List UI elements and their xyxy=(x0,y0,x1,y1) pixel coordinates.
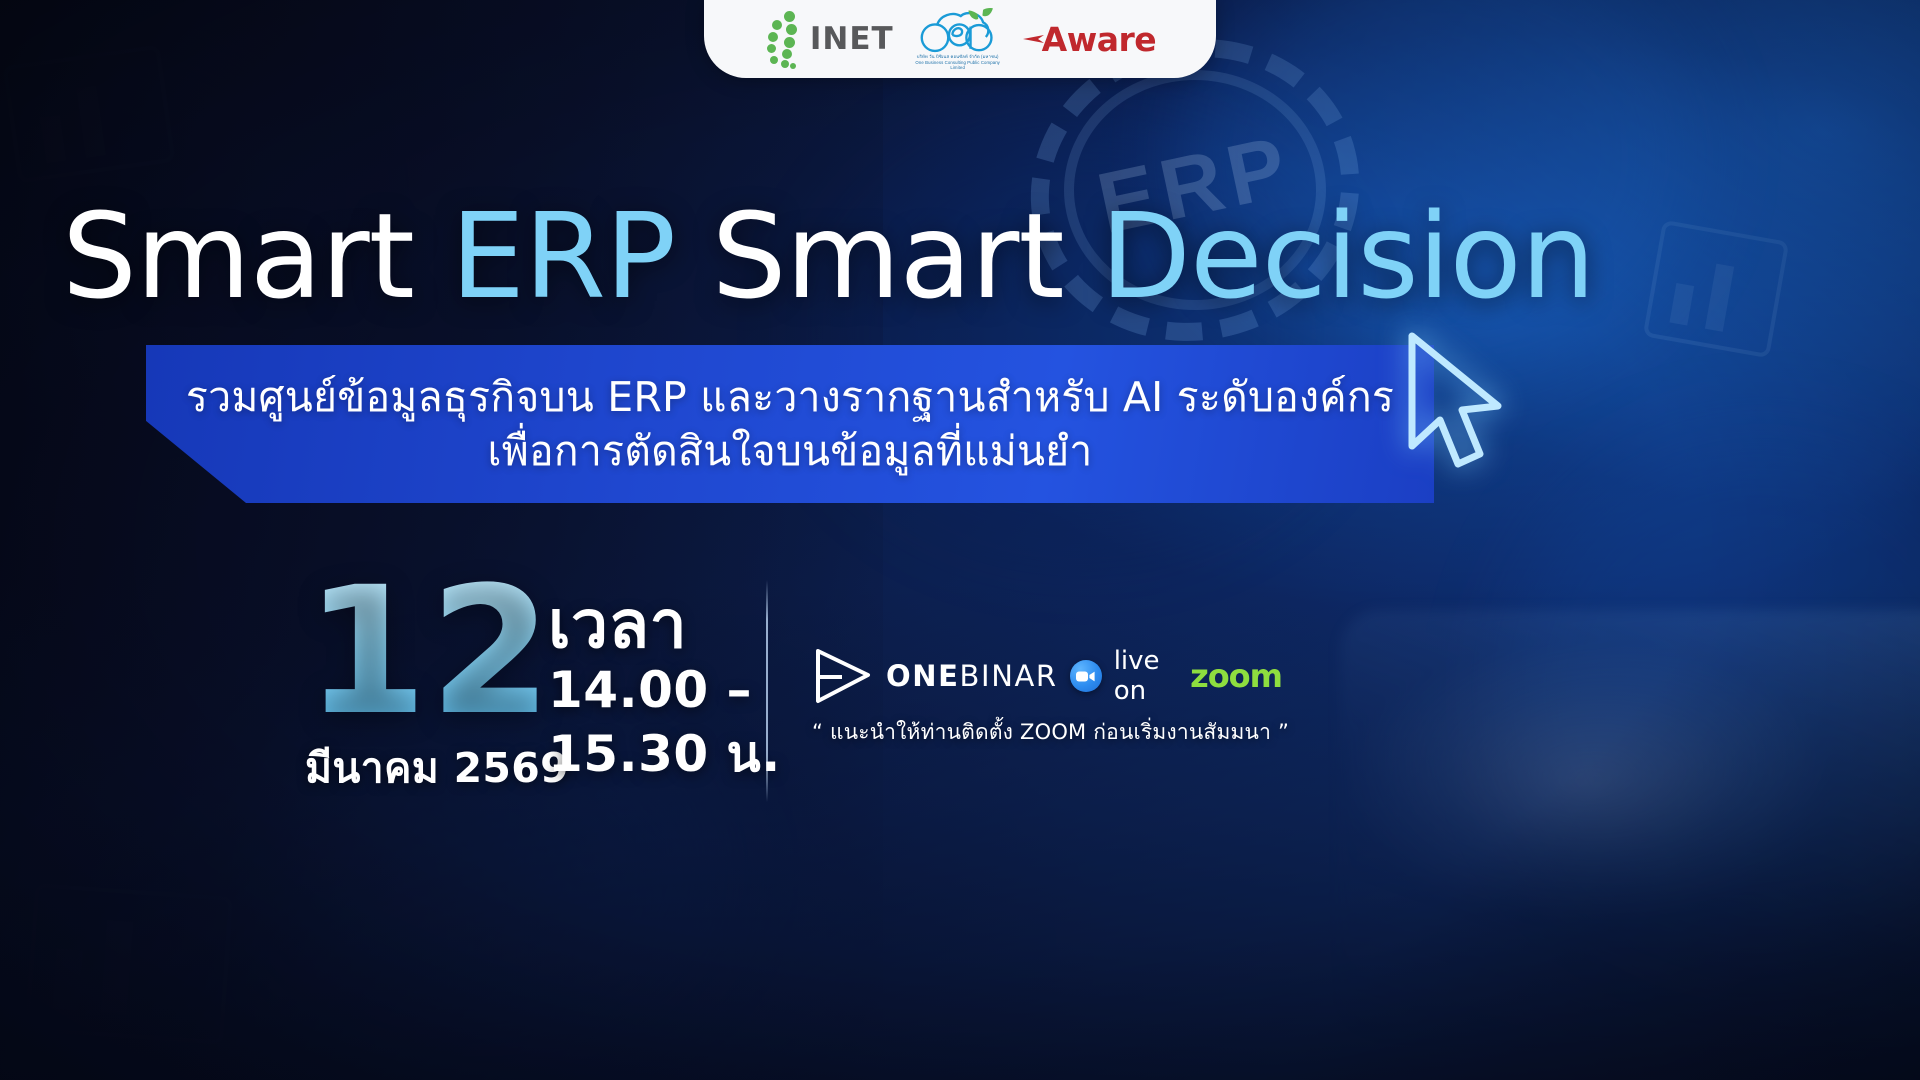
title-part-decision: Decision xyxy=(1100,187,1594,325)
zoom-wordmark: zoom xyxy=(1190,657,1282,695)
onebinar-wordmark: ONEBINAR xyxy=(886,659,1058,693)
time-label: เวลา xyxy=(548,592,781,658)
event-day: 12 xyxy=(305,575,554,730)
subtitle-line-1: รวมศูนย์ข้อมูลธุรกิจบน ERP และวางรากฐานส… xyxy=(186,372,1394,422)
oeb-company-subtitle: บริษัท วัน บิซิเนส คอนซัลท์ จำกัด (มหาชน… xyxy=(912,54,1004,70)
event-time-block: เวลา 14.00 – 15.30 น. xyxy=(548,592,781,786)
aware-wordmark: Aware xyxy=(1042,20,1156,59)
title-part-smart1: Smart xyxy=(62,187,450,325)
onebinar-play-icon xyxy=(812,645,874,707)
oeb-cloud-leaf-icon xyxy=(916,7,1000,53)
zoom-camera-icon xyxy=(1070,660,1102,692)
sponsor-logo-bar: INET บริษัท วัน บิซิเนส คอนซัลท์ จำก xyxy=(704,0,1216,78)
logo-aware: Aware xyxy=(1022,20,1156,59)
onebinar-binar: BINAR xyxy=(960,659,1058,693)
promo-banner: ERP INET xyxy=(0,0,1920,1080)
time-end: 15.30 น. xyxy=(548,722,781,786)
platform-block: ONEBINAR live on zoom “ แนะนำให้ท่านติดต… xyxy=(812,645,1282,749)
zoom-install-note: “ แนะนำให้ท่านติดตั้ง ZOOM ก่อนเริ่มงานส… xyxy=(812,716,1282,749)
subtitle-banner: รวมศูนย์ข้อมูลธุรกิจบน ERP และวางรากฐานส… xyxy=(146,345,1434,503)
title-part-erp: ERP xyxy=(450,187,675,325)
inet-wordmark: INET xyxy=(810,21,894,57)
subtitle-line-2: เพื่อการตัดสินใจบนข้อมูลที่แม่นยำ xyxy=(488,426,1093,476)
logo-inet: INET xyxy=(764,11,894,67)
inet-leaf-dots-icon xyxy=(764,11,806,67)
page-title: Smart ERP Smart Decision xyxy=(62,196,1872,316)
logo-oeb: บริษัท วัน บิซิเนส คอนซัลท์ จำกัด (มหาชน… xyxy=(912,7,1004,70)
time-start: 14.00 – xyxy=(548,658,781,722)
title-part-smart2: Smart xyxy=(675,187,1100,325)
live-on-label: live on xyxy=(1114,646,1178,706)
onebinar-one: ONE xyxy=(886,659,960,693)
mouse-cursor-icon xyxy=(1400,330,1510,480)
